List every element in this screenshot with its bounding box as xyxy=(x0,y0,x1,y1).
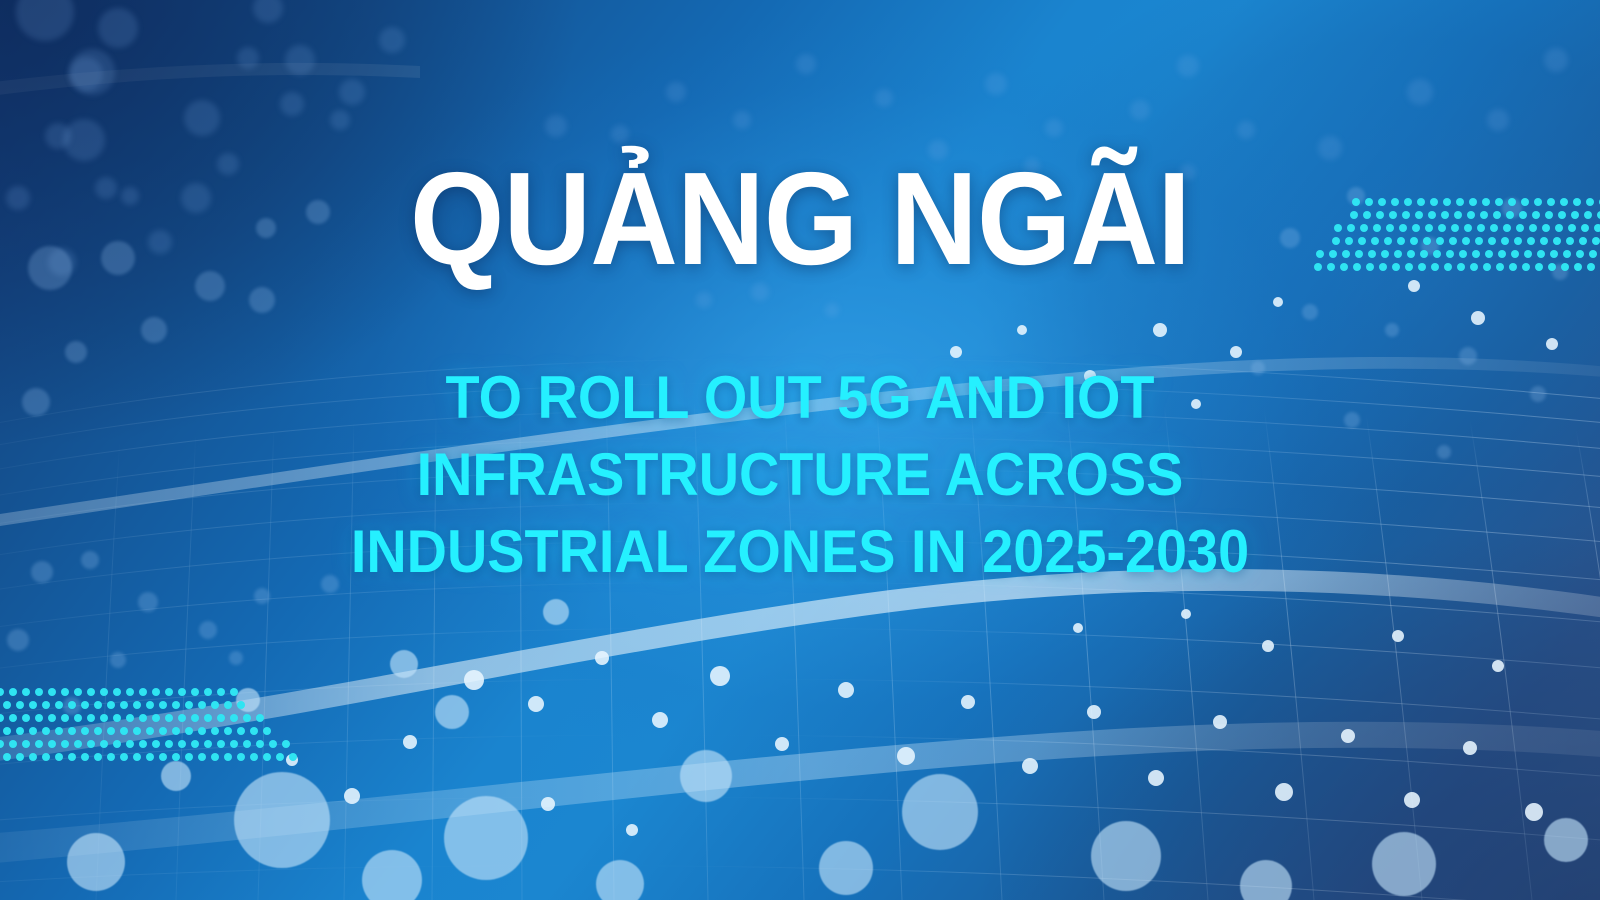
banner-canvas: QUẢNG NGÃI TO ROLL OUT 5G AND IOT INFRAS… xyxy=(0,0,1600,900)
subtitle-line-1: TO ROLL OUT 5G AND IOT xyxy=(56,360,1544,437)
banner-subtitle: TO ROLL OUT 5G AND IOT INFRASTRUCTURE AC… xyxy=(56,360,1544,590)
subtitle-line-3: INDUSTRIAL ZONES IN 2025-2030 xyxy=(56,514,1544,591)
banner-content: QUẢNG NGÃI TO ROLL OUT 5G AND IOT INFRAS… xyxy=(0,0,1600,900)
page-title: QUẢNG NGÃI xyxy=(64,153,1536,285)
subtitle-line-2: INFRASTRUCTURE ACROSS xyxy=(56,437,1544,514)
